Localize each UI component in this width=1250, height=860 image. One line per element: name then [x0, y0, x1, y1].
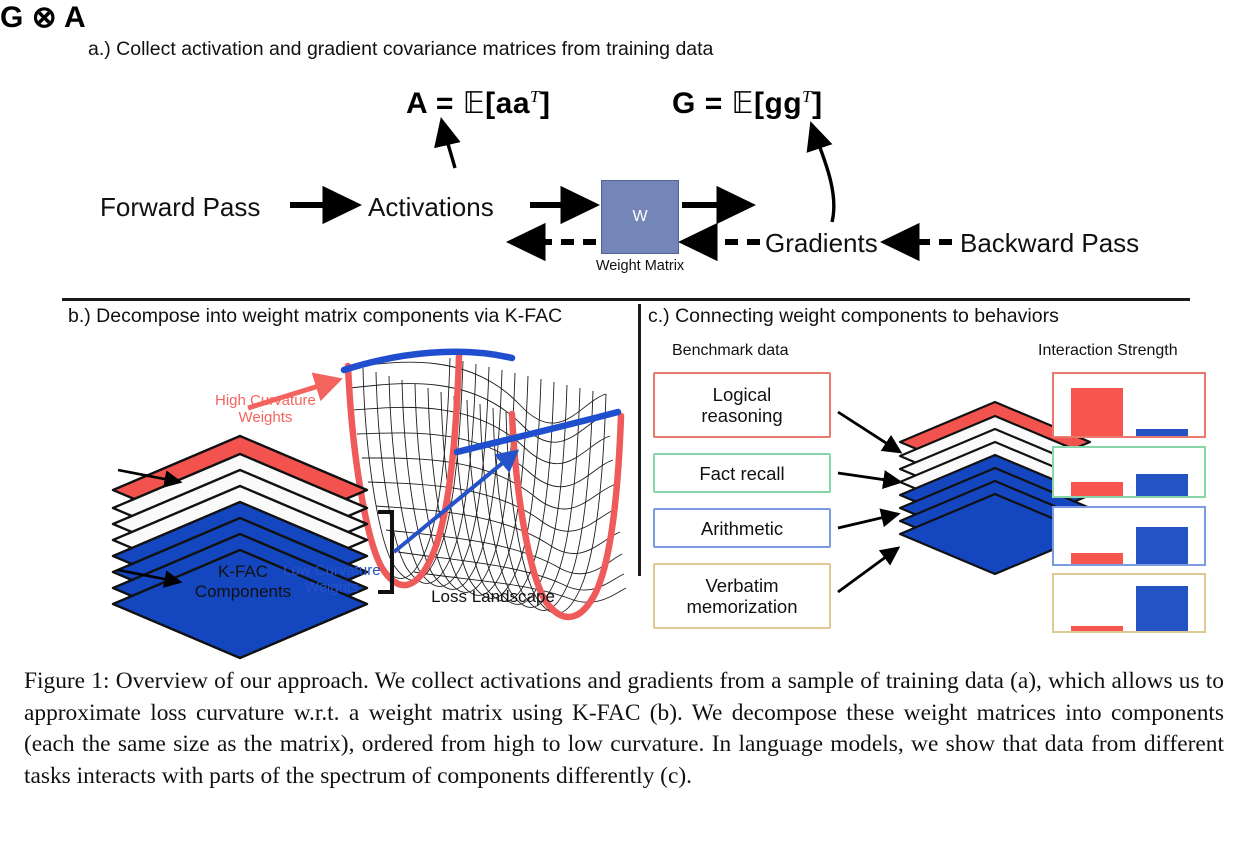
kfac-components-label: K-FACComponents — [168, 562, 318, 602]
interaction-chart-fact-recall — [1052, 446, 1206, 498]
weight-matrix-symbol: W — [632, 208, 647, 226]
weight-matrix-box: W — [601, 180, 679, 254]
arrow-arithmetic-to-stack — [838, 514, 898, 528]
bar-low-curvature — [1136, 586, 1188, 631]
weight-matrix-caption: Weight Matrix — [592, 258, 688, 274]
arrow-verbatim-to-stack — [838, 548, 898, 592]
arrow-logical-reasoning-to-stack — [838, 412, 900, 452]
bar-high-curvature — [1071, 388, 1123, 436]
interaction-chart-verbatim-memorization — [1052, 573, 1206, 633]
bar-low-curvature — [1136, 474, 1188, 496]
panel-divider-horizontal — [62, 298, 1190, 301]
bar-low-curvature — [1136, 527, 1188, 564]
high-curvature-label: High CurvatureWeights — [215, 392, 316, 426]
node-backward-pass: Backward Pass — [960, 228, 1139, 259]
arrow-activations-to-A — [442, 122, 455, 168]
figure-overview: a.) Collect activation and gradient cova… — [0, 0, 1250, 860]
node-gradients: Gradients — [765, 228, 878, 259]
panel-b-title: b.) Decompose into weight matrix compone… — [68, 305, 562, 328]
node-activations: Activations — [368, 192, 494, 223]
arrow-gradients-to-G — [812, 126, 834, 222]
panel-b-graphic — [0, 330, 640, 660]
interaction-chart-arithmetic — [1052, 506, 1206, 566]
bar-high-curvature — [1071, 482, 1123, 496]
curve-low-curvature-top — [344, 352, 512, 370]
arrow-fact-recall-to-stack — [838, 473, 900, 482]
interaction-chart-logical-reasoning — [1052, 372, 1206, 438]
figure-caption: Figure 1: Overview of our approach. We c… — [24, 666, 1224, 792]
node-forward-pass: Forward Pass — [100, 192, 260, 223]
kfac-component-stack — [113, 436, 367, 658]
panel-c-title: c.) Connecting weight components to beha… — [648, 305, 1059, 328]
bar-low-curvature — [1136, 429, 1188, 436]
loss-landscape-label: Loss Landscape — [398, 588, 588, 605]
bar-high-curvature — [1071, 553, 1123, 564]
bar-high-curvature — [1071, 626, 1123, 631]
